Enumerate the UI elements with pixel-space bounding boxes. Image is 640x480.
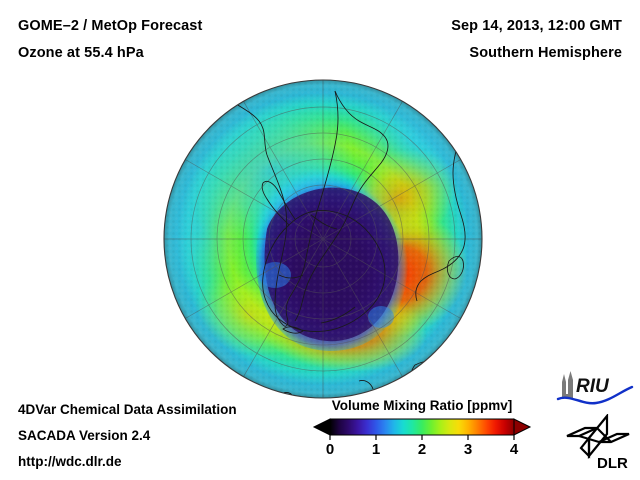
footer-method: 4DVar Chemical Data Assimilation	[18, 402, 237, 417]
colorbar-gradient	[306, 417, 538, 441]
footer-url: http://wdc.dlr.de	[18, 454, 122, 469]
dlr-propeller-icon	[567, 416, 629, 456]
dlr-wordmark: DLR	[597, 455, 628, 472]
colorbar-extend-high-arrow	[514, 419, 530, 435]
globe-svg	[163, 79, 483, 399]
colorbar-tick-label: 3	[464, 441, 472, 458]
colorbar: Volume Mixing Ratio [ppmv] 01234	[306, 398, 538, 470]
polar-stereographic-map	[163, 79, 483, 399]
colorbar-tick-label: 2	[418, 441, 426, 458]
colorbar-title: Volume Mixing Ratio [ppmv]	[306, 398, 538, 413]
dlr-logo: DLR	[563, 414, 633, 472]
figure-datetime: Sep 14, 2013, 12:00 GMT	[451, 18, 622, 34]
figure-region: Southern Hemisphere	[469, 45, 622, 61]
figure-title-quantity: Ozone at 55.4 hPa	[18, 45, 144, 61]
colorbar-bar	[330, 419, 514, 435]
footer-version: SACADA Version 2.4	[18, 428, 150, 443]
colorbar-tick-labels: 01234	[306, 441, 538, 465]
colorbar-tick-label: 4	[510, 441, 518, 458]
riu-wordmark: RIU	[576, 376, 610, 397]
limb-shading	[164, 80, 482, 398]
colorbar-tick-label: 1	[372, 441, 380, 458]
ozone-forecast-figure: GOME–2 / MetOp Forecast Ozone at 55.4 hP…	[0, 0, 640, 480]
figure-title-instrument: GOME–2 / MetOp Forecast	[18, 18, 202, 34]
riu-cathedral-icon	[562, 371, 573, 398]
colorbar-tick-label: 0	[326, 441, 334, 458]
riu-logo: RIU	[556, 368, 634, 410]
colorbar-ticks	[330, 435, 514, 440]
coastline-island-a	[223, 374, 234, 381]
colorbar-extend-low-arrow	[314, 419, 330, 435]
